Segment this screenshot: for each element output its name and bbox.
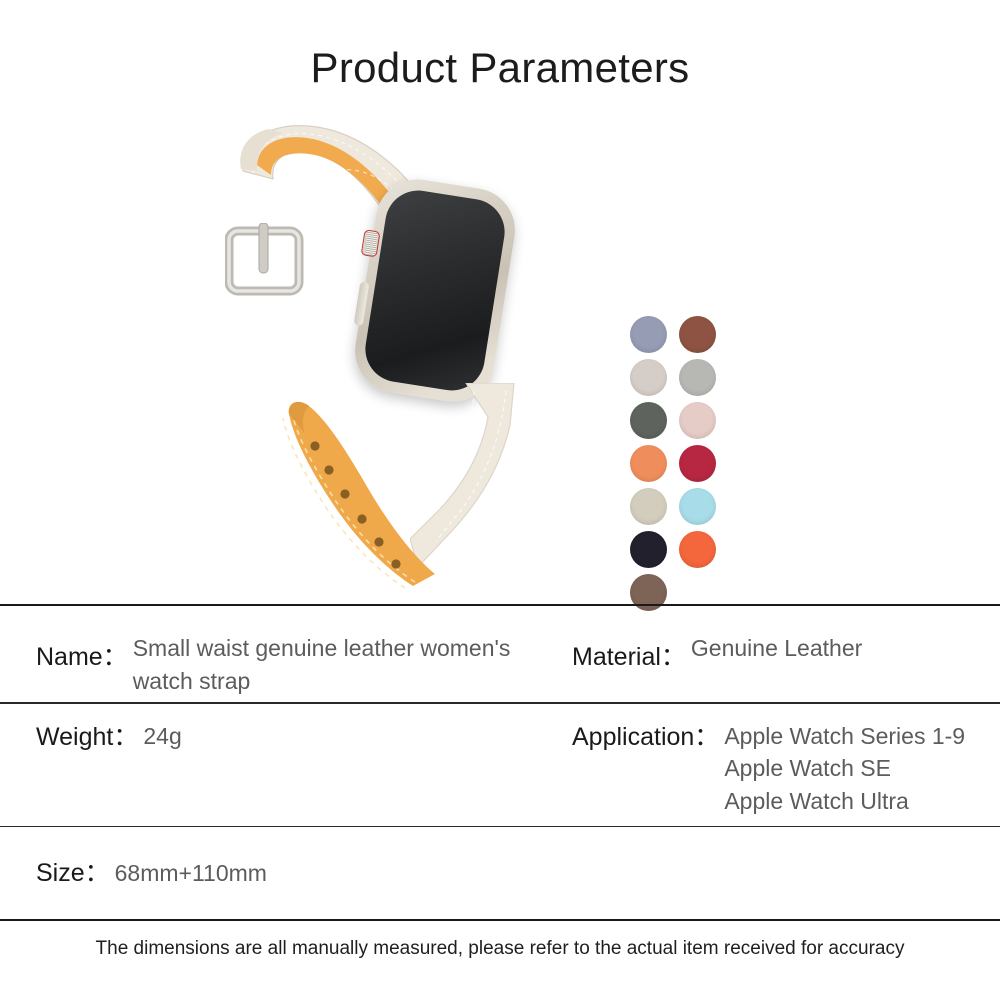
watch-product-photo	[205, 105, 605, 595]
swatch-coral-orange[interactable]	[679, 531, 716, 568]
value-material: Genuine Leather	[686, 632, 862, 665]
cell-name: Name： Small waist genuine leather women'…	[0, 632, 560, 697]
table-row-size: Size： 68mm+110mm	[0, 827, 1000, 919]
swatch-blush-pink[interactable]	[679, 402, 716, 439]
swatch-row	[630, 359, 740, 396]
value-size: 68mm+110mm	[110, 857, 267, 890]
cell-material: Material： Genuine Leather	[560, 632, 1000, 675]
cell-weight: Weight： 24g	[0, 720, 560, 755]
cell-application: Application： Apple Watch Series 1-9 Appl…	[560, 720, 1000, 818]
label-application: Application：	[572, 720, 719, 755]
product-image-area	[0, 100, 1000, 600]
swatch-dark-slate-gray[interactable]	[630, 402, 667, 439]
swatch-row	[630, 488, 740, 525]
color-swatch-grid[interactable]	[630, 316, 740, 591]
swatch-light-cyan[interactable]	[679, 488, 716, 525]
label-material: Material：	[572, 632, 686, 675]
side-button-icon	[354, 281, 370, 326]
page-title: Product Parameters	[0, 44, 1000, 92]
value-application: Apple Watch Series 1-9 Apple Watch SE Ap…	[719, 720, 965, 818]
swatch-orange[interactable]	[630, 445, 667, 482]
swatch-row	[630, 402, 740, 439]
swatch-light-warm-gray[interactable]	[630, 359, 667, 396]
measurement-disclaimer: The dimensions are all manually measured…	[0, 938, 1000, 960]
swatch-row	[630, 316, 740, 353]
value-name: Small waist genuine leather women's watc…	[128, 632, 511, 697]
spec-table: Name： Small waist genuine leather women'…	[0, 604, 1000, 921]
table-bottom-rule	[0, 919, 1000, 921]
swatch-cool-gray[interactable]	[679, 359, 716, 396]
strap-tail-with-holes-icon	[265, 400, 445, 590]
digital-crown-icon	[361, 229, 381, 257]
swatch-beige[interactable]	[630, 488, 667, 525]
swatch-row	[630, 445, 740, 482]
swatch-rust-brown[interactable]	[679, 316, 716, 353]
label-name: Name：	[36, 632, 128, 675]
swatch-row	[630, 531, 740, 568]
label-size: Size：	[36, 857, 110, 891]
cell-size: Size： 68mm+110mm	[0, 857, 560, 891]
label-weight: Weight：	[36, 720, 138, 755]
swatch-crimson-red[interactable]	[679, 445, 716, 482]
swatch-midnight-navy[interactable]	[630, 531, 667, 568]
swatch-periwinkle-gray[interactable]	[630, 316, 667, 353]
product-parameters-page: Product Parameters	[0, 0, 1000, 1000]
value-weight: 24g	[138, 720, 181, 753]
table-row-name: Name： Small waist genuine leather women'…	[0, 606, 1000, 702]
watch-screen	[361, 186, 510, 395]
strap-buckle-icon	[225, 223, 307, 299]
table-row-weight: Weight： 24g Application： Apple Watch Ser…	[0, 704, 1000, 826]
